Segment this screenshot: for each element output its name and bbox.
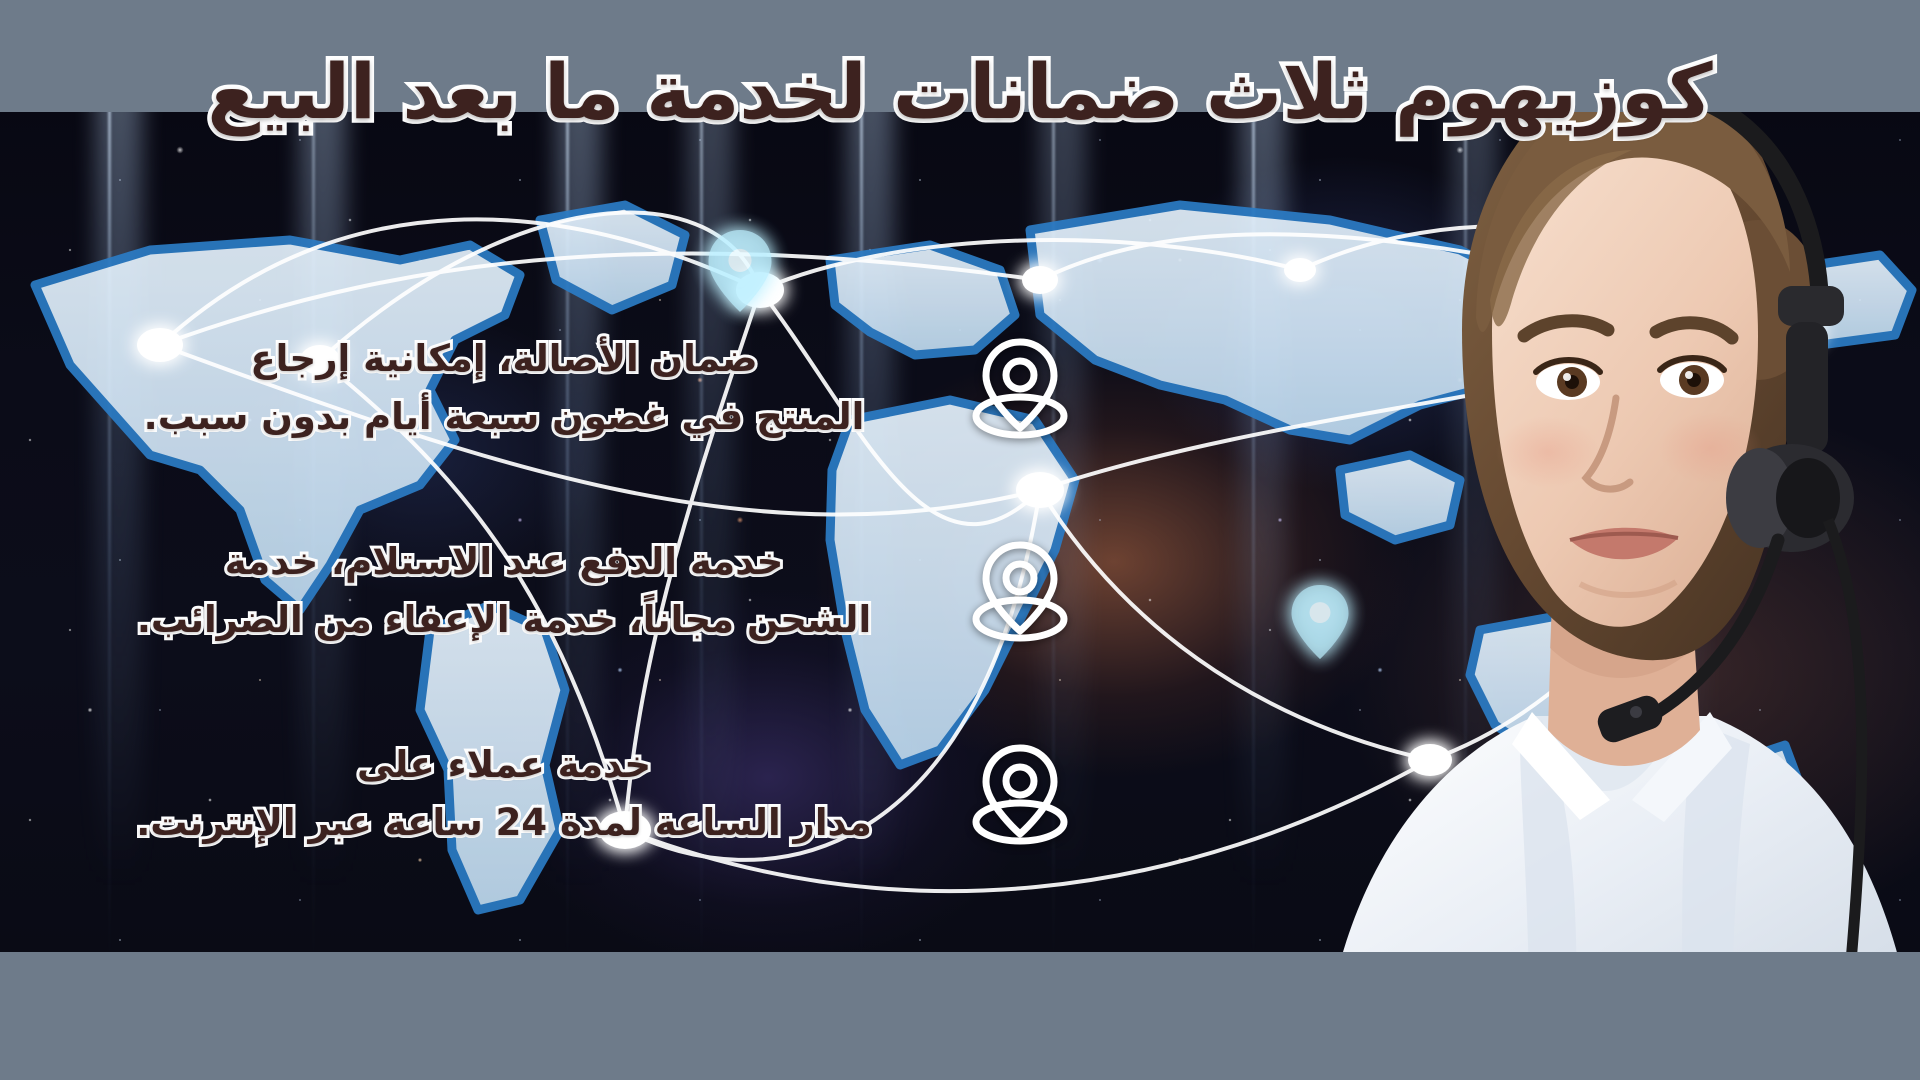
list-item-line: المنتج في غضون سبعة أيام بدون سبب. — [60, 388, 948, 446]
list-item: ضمان الأصالة، إمكانية إرجاع المنتج في غض… — [60, 330, 1070, 447]
location-pin-icon — [970, 336, 1070, 440]
list-item: خدمة عملاء على مدار الساعة لمدة 24 ساعة … — [60, 736, 1070, 853]
list-item-line: ضمان الأصالة، إمكانية إرجاع — [60, 330, 948, 388]
list-item-line: الشحن مجاناً، خدمة الإعفاء من الضرائب. — [60, 591, 948, 649]
location-pin-icon — [970, 742, 1070, 846]
list-item-line: مدار الساعة لمدة 24 ساعة عبر الإنترنت. — [60, 794, 948, 852]
promo-banner: كوزيهوم ثلاث ضمانات لخدمة ما بعد البيع ض… — [0, 0, 1920, 1080]
page-title: كوزيهوم ثلاث ضمانات لخدمة ما بعد البيع — [0, 52, 1920, 132]
list-item-text: ضمان الأصالة، إمكانية إرجاع المنتج في غض… — [60, 330, 948, 447]
location-pin-icon — [970, 539, 1070, 643]
list-item-text: خدمة عملاء على مدار الساعة لمدة 24 ساعة … — [60, 736, 948, 853]
list-item-line: خدمة الدفع عند الاستلام، خدمة — [60, 533, 948, 591]
list-item-line: خدمة عملاء على — [60, 736, 948, 794]
call-center-agent-photo — [1280, 0, 1920, 1080]
list-item: خدمة الدفع عند الاستلام، خدمة الشحن مجان… — [60, 533, 1070, 650]
bottom-grey-band — [0, 952, 1920, 1080]
list-item-text: خدمة الدفع عند الاستلام، خدمة الشحن مجان… — [60, 533, 948, 650]
guarantee-list: ضمان الأصالة، إمكانية إرجاع المنتج في غض… — [60, 330, 1070, 853]
